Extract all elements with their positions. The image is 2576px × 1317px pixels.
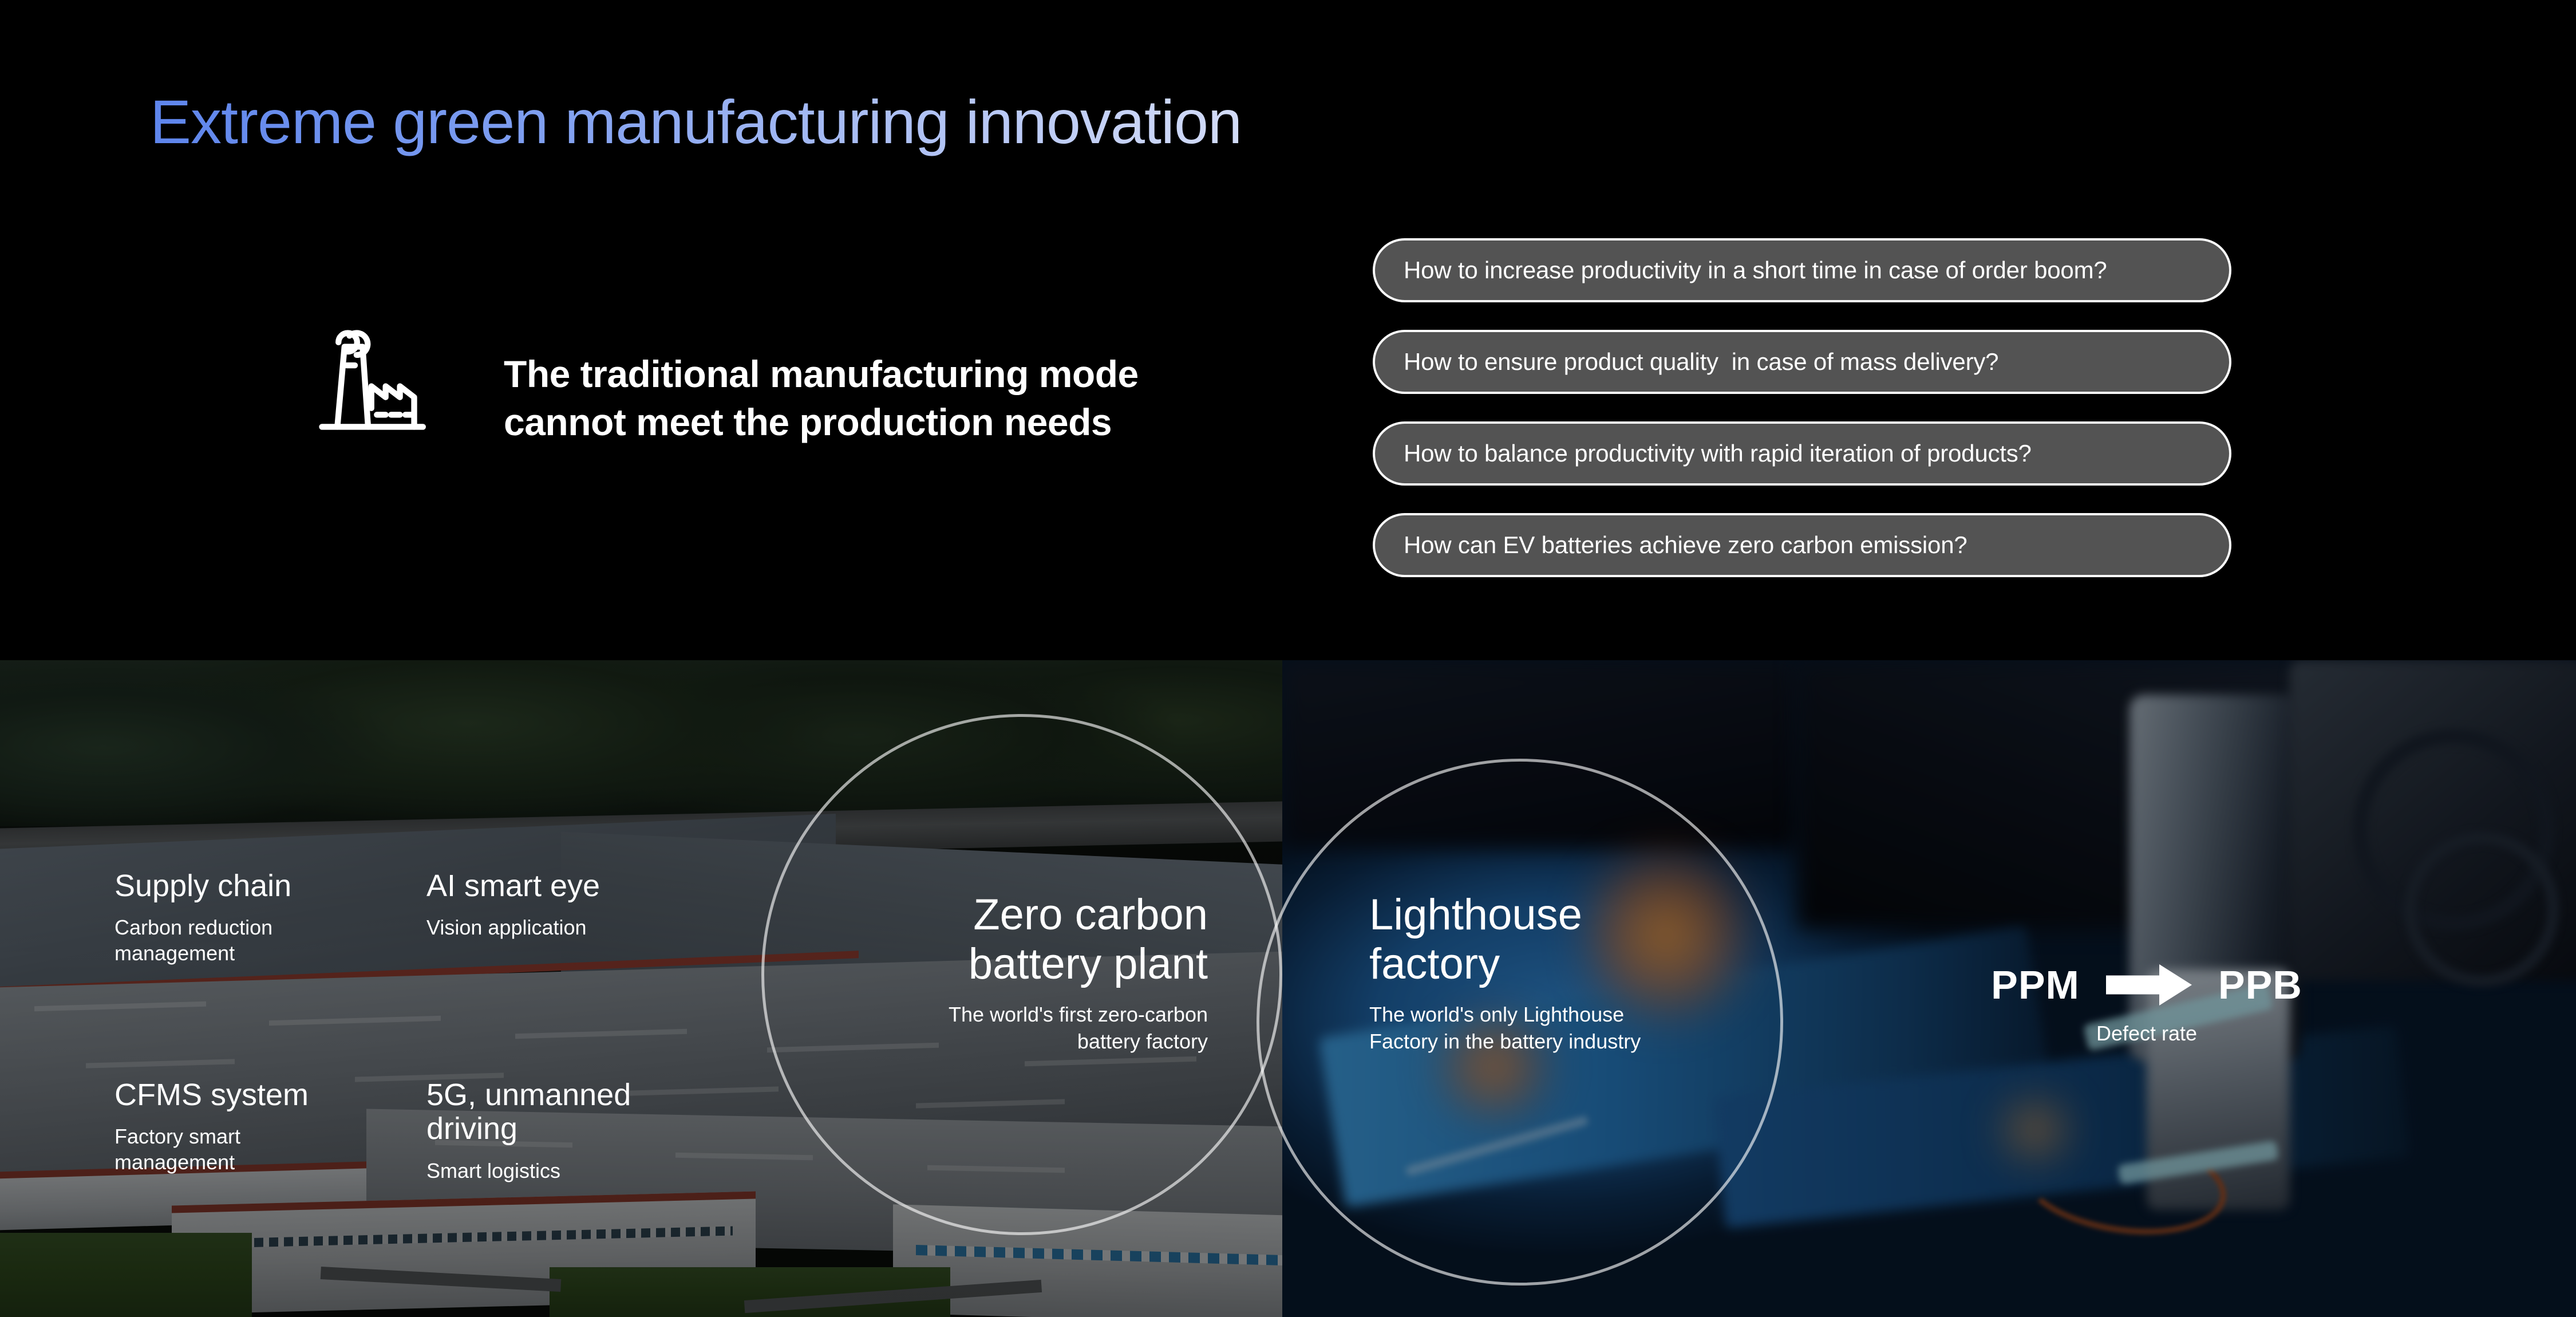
- top-panel: Extreme green manufacturing innovation T…: [0, 0, 2576, 660]
- factory-icon: [302, 314, 434, 445]
- callout-subtitle: The world's only Lighthouse Factory in t…: [1369, 1001, 1804, 1055]
- callout-title: Lighthouse factory: [1369, 890, 1804, 989]
- callout-subtitle: The world's first zero-carbon battery fa…: [761, 1001, 1208, 1055]
- page-title: Extreme green manufacturing innovation: [150, 86, 1242, 157]
- feature-title: Supply chain: [114, 869, 291, 903]
- statement-block: The traditional manufacturing mode canno…: [504, 350, 1277, 447]
- feature-title: 5G, unmanned driving: [426, 1078, 631, 1146]
- feature-subtitle: Smart logistics: [426, 1158, 631, 1184]
- callout-lighthouse-factory[interactable]: Lighthouse factory The world's only Ligh…: [1369, 890, 1804, 1055]
- statement-line-2: cannot meet the production needs: [504, 399, 1277, 447]
- question-pill-label: How to balance productivity with rapid i…: [1375, 440, 2032, 467]
- metric-from-value: PPM: [1991, 962, 2080, 1008]
- feature-subtitle: Carbon reduction management: [114, 914, 291, 966]
- defect-rate-metric: PPM PPB Defect rate: [1935, 962, 2358, 1046]
- feature-subtitle: Vision application: [426, 914, 600, 940]
- question-pill[interactable]: How to increase productivity in a short …: [1373, 238, 2231, 302]
- question-pill-label: How can EV batteries achieve zero carbon…: [1375, 531, 1967, 559]
- question-pill-list: How to increase productivity in a short …: [1373, 238, 2231, 605]
- feature-cfms-system[interactable]: CFMS system Factory smart management: [114, 1078, 309, 1175]
- feature-ai-smart-eye[interactable]: AI smart eye Vision application: [426, 869, 600, 940]
- question-pill-label: How to increase productivity in a short …: [1375, 257, 2107, 284]
- feature-supply-chain[interactable]: Supply chain Carbon reduction management: [114, 869, 291, 966]
- metric-to-value: PPB: [2218, 962, 2302, 1008]
- metric-caption: Defect rate: [1935, 1022, 2358, 1046]
- question-pill[interactable]: How to ensure product quality in case of…: [1373, 330, 2231, 394]
- arrow-right-icon: [2106, 964, 2192, 1006]
- feature-5g-unmanned-driving[interactable]: 5G, unmanned driving Smart logistics: [426, 1078, 631, 1184]
- callout-zero-carbon-battery-plant[interactable]: Zero carbon battery plant The world's fi…: [761, 890, 1208, 1055]
- callout-title: Zero carbon battery plant: [761, 890, 1208, 989]
- question-pill[interactable]: How to balance productivity with rapid i…: [1373, 421, 2231, 486]
- statement-line-1: The traditional manufacturing mode: [504, 350, 1277, 399]
- feature-subtitle: Factory smart management: [114, 1123, 309, 1175]
- question-pill[interactable]: How can EV batteries achieve zero carbon…: [1373, 513, 2231, 577]
- feature-title: CFMS system: [114, 1078, 309, 1112]
- feature-title: AI smart eye: [426, 869, 600, 903]
- slide-root: Extreme green manufacturing innovation T…: [0, 0, 2576, 1317]
- question-pill-label: How to ensure product quality in case of…: [1375, 348, 1998, 376]
